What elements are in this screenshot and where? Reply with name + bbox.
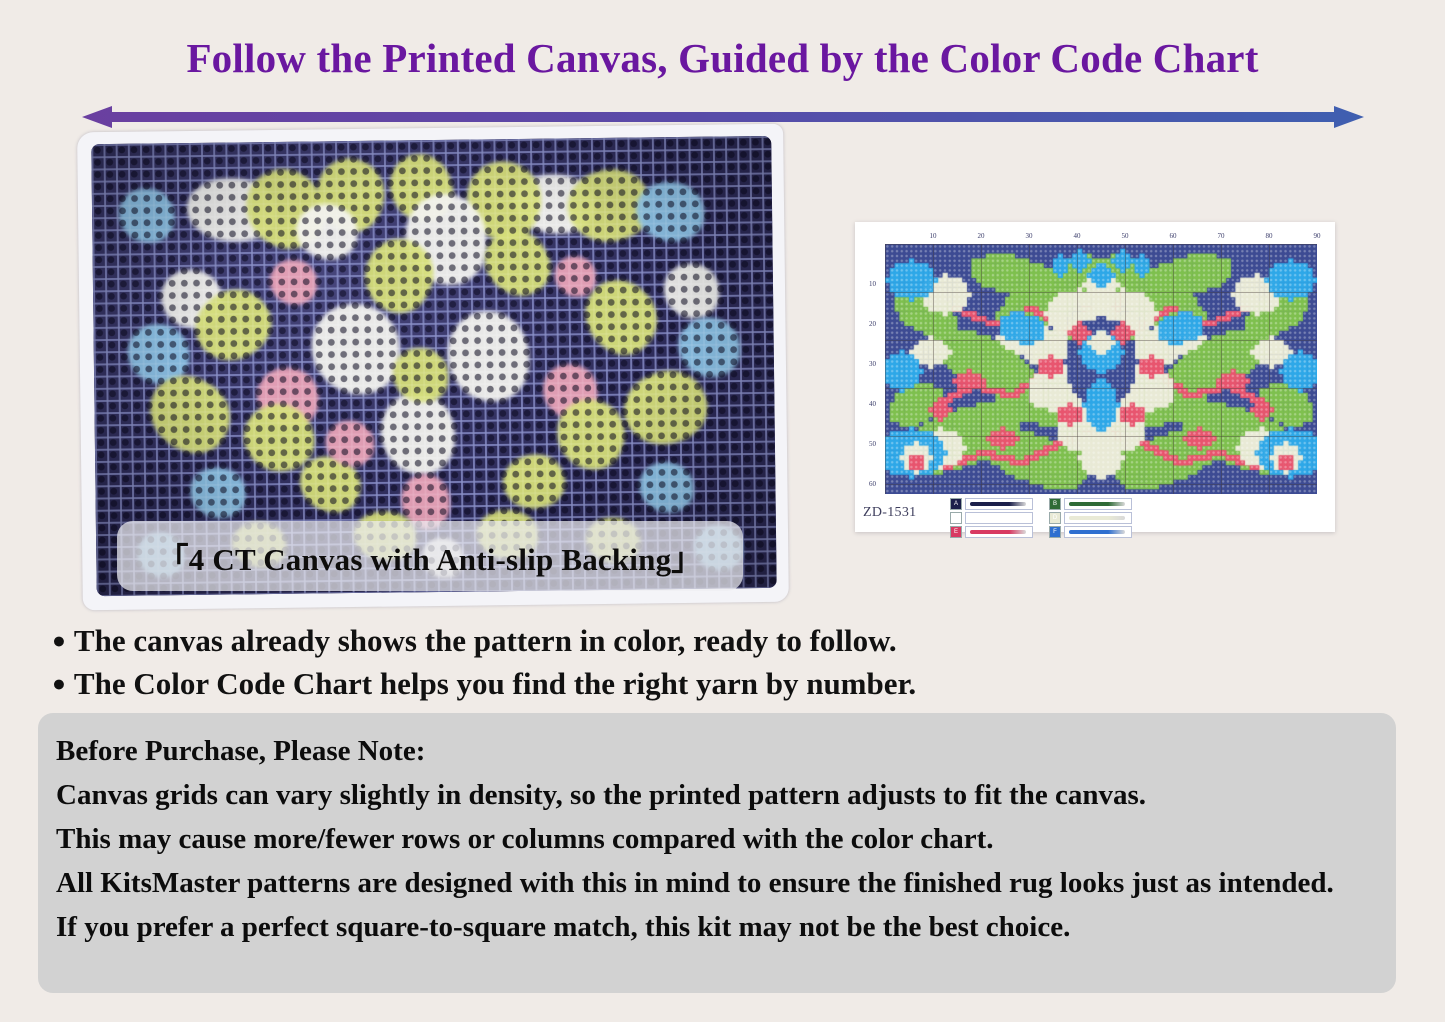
notice-line: If you prefer a perfect square-to-square… (56, 905, 1378, 949)
chart-x-tick: 70 (1218, 232, 1225, 240)
chart-y-tick: 20 (869, 320, 876, 328)
chart-color-legend: ABCDEF (950, 498, 1132, 538)
legend-row: C (950, 512, 1033, 524)
chart-y-tick: 60 (869, 480, 876, 488)
bullet-text: The Color Code Chart helps you find the … (74, 666, 916, 701)
legend-key: F (1049, 526, 1061, 538)
legend-row: E (950, 526, 1033, 538)
chart-x-tick: 60 (1170, 232, 1177, 240)
chart-x-tick: 20 (978, 232, 985, 240)
bullet-dot-icon: ● (52, 671, 66, 696)
chart-x-tick: 40 (1074, 232, 1081, 240)
chart-y-tick: 40 (869, 400, 876, 408)
chart-design-code: ZD-1531 (863, 505, 916, 521)
legend-row: F (1049, 526, 1132, 538)
color-code-chart: 102030405060708090 102030405060 ZD-1531 … (855, 222, 1335, 532)
feature-bullet-list: ●The canvas already shows the pattern in… (52, 619, 1232, 705)
legend-key: C (950, 512, 962, 524)
legend-yarn-swatch (965, 526, 1033, 538)
legend-row: A (950, 498, 1033, 510)
bullet-text: The canvas already shows the pattern in … (74, 623, 897, 658)
legend-key: E (950, 526, 962, 538)
chart-x-tick: 10 (930, 232, 937, 240)
chart-x-tick: 90 (1314, 232, 1321, 240)
legend-yarn-swatch (965, 498, 1033, 510)
notice-line: Canvas grids can vary slightly in densit… (56, 773, 1378, 817)
list-item: ●The canvas already shows the pattern in… (52, 619, 1232, 662)
legend-key: A (950, 498, 962, 510)
list-item: ●The Color Code Chart helps you find the… (52, 662, 1232, 705)
legend-key: B (1049, 498, 1061, 510)
page-title: Follow the Printed Canvas, Guided by the… (0, 34, 1445, 82)
legend-key: D (1049, 512, 1061, 524)
notice-line: All KitsMaster patterns are designed wit… (56, 861, 1378, 905)
legend-row: D (1049, 512, 1132, 524)
notice-line: This may cause more/fewer rows or column… (56, 817, 1378, 861)
canvas-caption: 「4 CT Canvas with Anti-slip Backing」 (117, 521, 743, 591)
bullet-dot-icon: ● (52, 628, 66, 653)
chart-pattern-grid (885, 244, 1317, 494)
legend-yarn-swatch (1064, 498, 1132, 510)
chart-x-tick: 50 (1122, 232, 1129, 240)
chart-y-tick: 10 (869, 280, 876, 288)
legend-yarn-swatch (1064, 512, 1132, 524)
notice-heading: Before Purchase, Please Note: (56, 729, 1378, 773)
legend-yarn-swatch (965, 512, 1033, 524)
chart-y-tick: 50 (869, 440, 876, 448)
chart-x-tick: 30 (1026, 232, 1033, 240)
legend-yarn-swatch (1064, 526, 1132, 538)
before-purchase-notice: Before Purchase, Please Note: Canvas gri… (38, 713, 1396, 993)
chart-y-tick: 30 (869, 360, 876, 368)
legend-row: B (1049, 498, 1132, 510)
chart-x-tick: 80 (1266, 232, 1273, 240)
